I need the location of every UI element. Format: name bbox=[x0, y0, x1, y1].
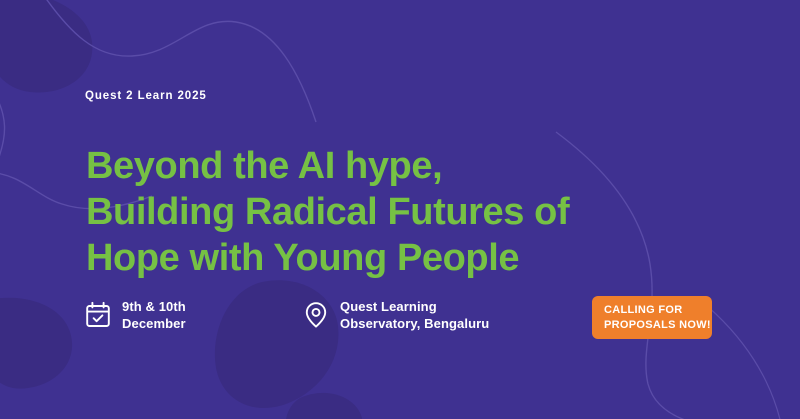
event-promo-banner: Quest 2 Learn 2025 Beyond the AI hype, B… bbox=[0, 0, 800, 419]
map-pin-icon bbox=[303, 301, 329, 329]
event-date-line-2: December bbox=[122, 315, 186, 332]
event-series-label: Quest 2 Learn 2025 bbox=[85, 90, 207, 102]
event-venue-block: Quest Learning Observatory, Bengaluru bbox=[303, 298, 489, 332]
headline-line-2: Building Radical Futures of bbox=[86, 189, 706, 235]
page-title: Beyond the AI hype, Building Radical Fut… bbox=[86, 143, 706, 281]
event-venue-line-1: Quest Learning bbox=[340, 298, 489, 315]
headline-line-1: Beyond the AI hype, bbox=[86, 143, 706, 189]
calendar-check-icon bbox=[85, 301, 111, 329]
headline-line-3: Hope with Young People bbox=[86, 235, 706, 281]
banner-content: Quest 2 Learn 2025 Beyond the AI hype, B… bbox=[0, 0, 800, 419]
cta-line-1: CALLING FOR bbox=[604, 303, 712, 318]
event-date-line-1: 9th & 10th bbox=[122, 298, 186, 315]
cta-line-2: PROPOSALS NOW! bbox=[604, 318, 712, 333]
call-for-proposals-button[interactable]: CALLING FOR PROPOSALS NOW! bbox=[592, 296, 712, 339]
event-venue-text: Quest Learning Observatory, Bengaluru bbox=[340, 298, 489, 332]
event-date-block: 9th & 10th December bbox=[85, 298, 186, 332]
event-date-text: 9th & 10th December bbox=[122, 298, 186, 332]
event-venue-line-2: Observatory, Bengaluru bbox=[340, 315, 489, 332]
